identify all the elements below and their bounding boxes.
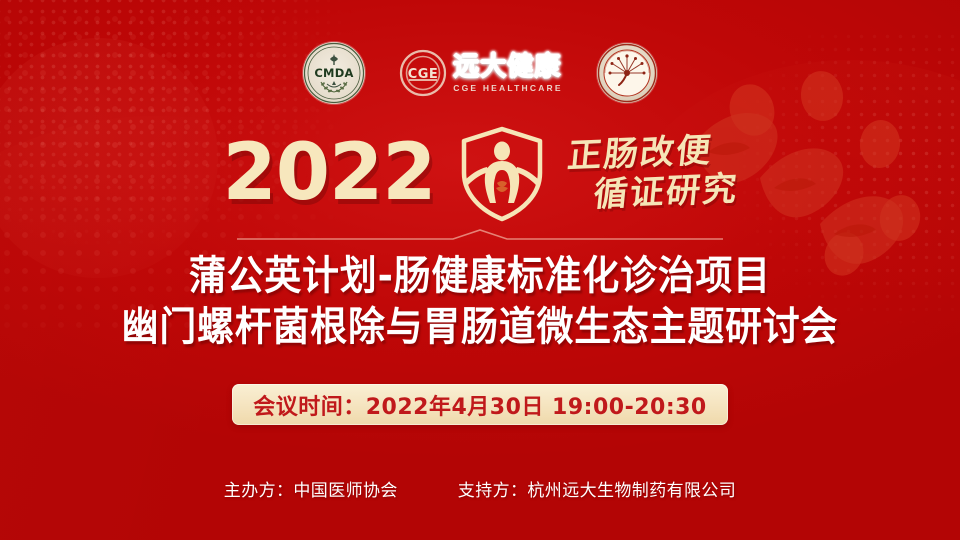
cge-mark-icon: CGE [399, 49, 447, 97]
cge-healthcare-logo: CGE 远大健康 CGE HEALTHCARE [399, 49, 563, 97]
page-title-line-2: 幽门螺杆菌根除与胃肠道微生态主题研讨会 [38, 305, 921, 350]
title-block: 蒲公英计划-肠健康标准化诊治项目 幽门螺杆菌根除与胃肠道微生态主题研讨会 [0, 254, 960, 350]
svg-text:CMDA: CMDA [315, 66, 354, 80]
hero-row: 2022 正肠改便 循证研究 [0, 122, 960, 224]
page-title-line-1: 蒲公英计划-肠健康标准化诊治项目 [38, 254, 921, 299]
calligraphy-line-2: 循证研究 [592, 173, 740, 212]
cmda-logo: CMDA [303, 42, 365, 104]
cge-chinese-name: 远大健康 [453, 53, 561, 80]
supporter-text: 支持方：杭州远大生物制药有限公司 [458, 476, 736, 501]
dandelion-seal-logo [597, 43, 657, 103]
meeting-time-text: 会议时间：2022年4月30日 19:00-20:30 [253, 389, 707, 421]
footer-credits: 主办方：中国医师协会 支持方：杭州远大生物制药有限公司 [0, 476, 960, 501]
organizer-text: 主办方：中国医师协会 [224, 476, 398, 501]
sponsor-logo-row: CMDA [0, 36, 960, 110]
calligraphy-slogan: 正肠改便 循证研究 [568, 137, 738, 210]
cge-english-name: CGE HEALTHCARE [453, 83, 563, 93]
calligraphy-line-1: 正肠改便 [565, 133, 739, 173]
conference-poster: CMDA [0, 0, 960, 540]
gut-health-shield-emblem [454, 123, 550, 223]
chevron-divider [235, 228, 725, 242]
year-2022: 2022 [222, 134, 435, 212]
meeting-time-banner: 会议时间：2022年4月30日 19:00-20:30 [232, 384, 728, 425]
